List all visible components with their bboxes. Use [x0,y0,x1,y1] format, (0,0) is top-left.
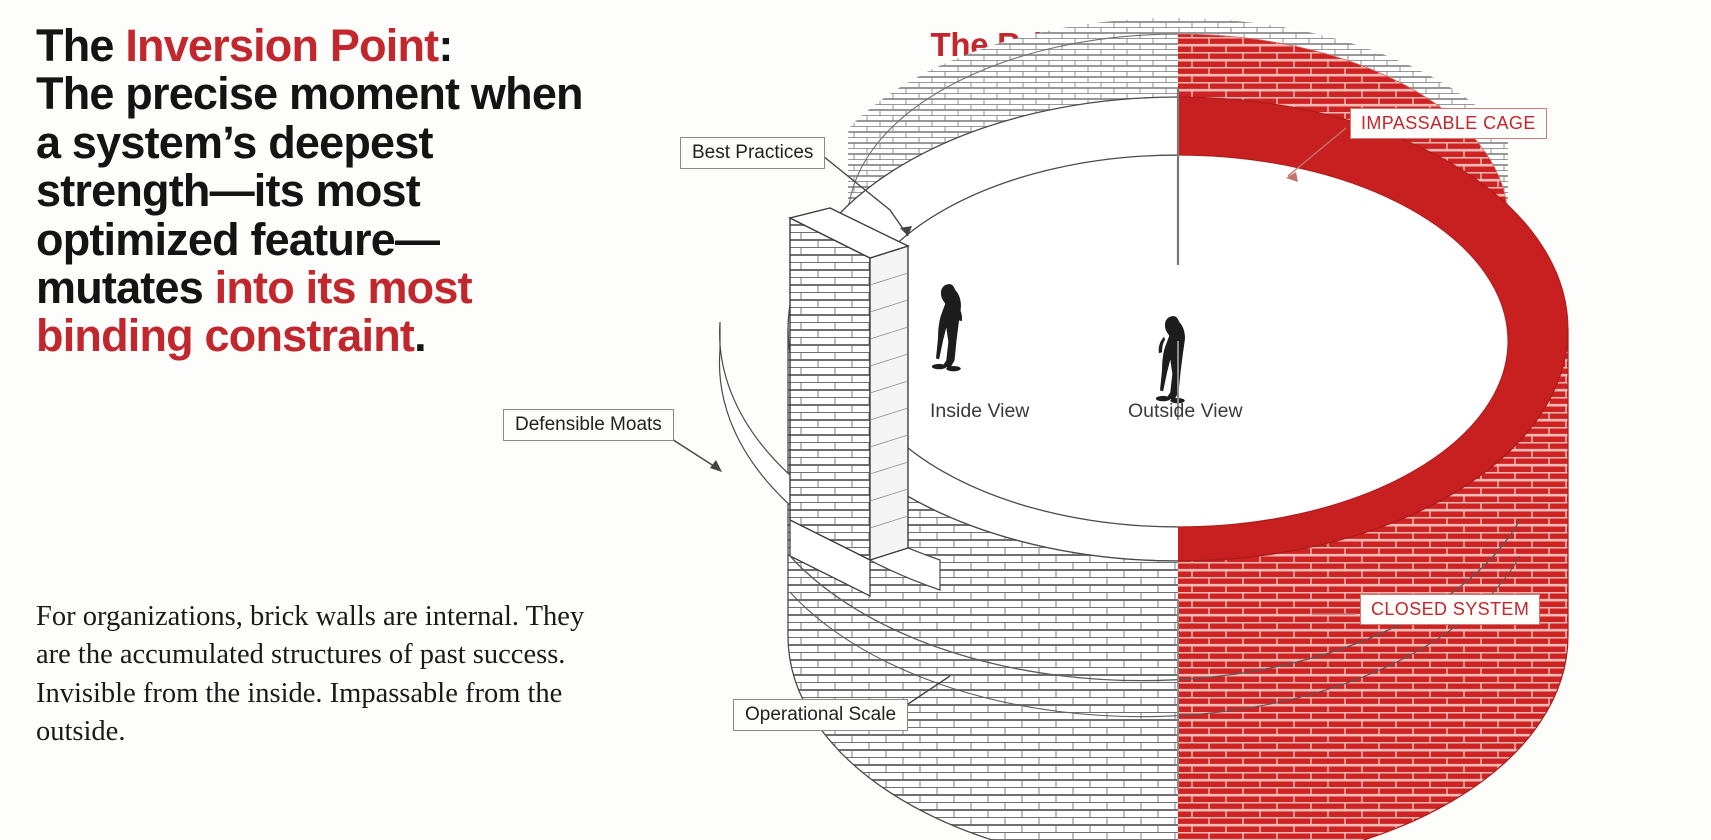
arrowhead-defensible-moats [710,460,722,472]
infographic-canvas: The Inversion Point: The precise moment … [0,0,1711,840]
callout-operational-scale[interactable]: Operational Scale [733,699,908,731]
brick-wall-diagram: The Brick Wall Paradox [640,0,1711,840]
left-text-column: The Inversion Point: The precise moment … [36,22,656,361]
headline-accent-binding-constraint: binding constraint [36,310,414,361]
callout-best-practices[interactable]: Best Practices [680,137,825,169]
headline-line-3: a system’s deepest [36,117,433,168]
body-copy-block: For organizations, brick walls are inter… [36,598,596,751]
wall-cutaway-section [719,208,940,596]
headline-line-7: binding constraint. [36,310,426,361]
cut-face-left [790,218,870,560]
headline-line-4: strength—its most [36,165,420,216]
callout-impassable-cage[interactable]: IMPASSABLE CAGE [1350,108,1547,139]
label-inside-view: Inside View [930,400,1029,423]
headline-accent-into-its-most: into its most [215,262,472,313]
callout-closed-system[interactable]: CLOSED SYSTEM [1360,594,1540,625]
page-headline: The Inversion Point: The precise moment … [36,22,656,361]
headline-accent-inversion-point: Inversion Point [125,20,438,71]
cut-face-thickness [870,246,908,560]
headline-line-2: The precise moment when [36,68,583,119]
headline-line-6: mutates into its most [36,262,472,313]
headline-line-5: optimized feature— [36,214,439,265]
headline-line-1: The Inversion Point: [36,20,453,71]
callout-defensible-moats[interactable]: Defensible Moats [503,409,674,441]
label-outside-view: Outside View [1128,400,1243,423]
body-copy-paragraph: For organizations, brick walls are inter… [36,598,596,751]
